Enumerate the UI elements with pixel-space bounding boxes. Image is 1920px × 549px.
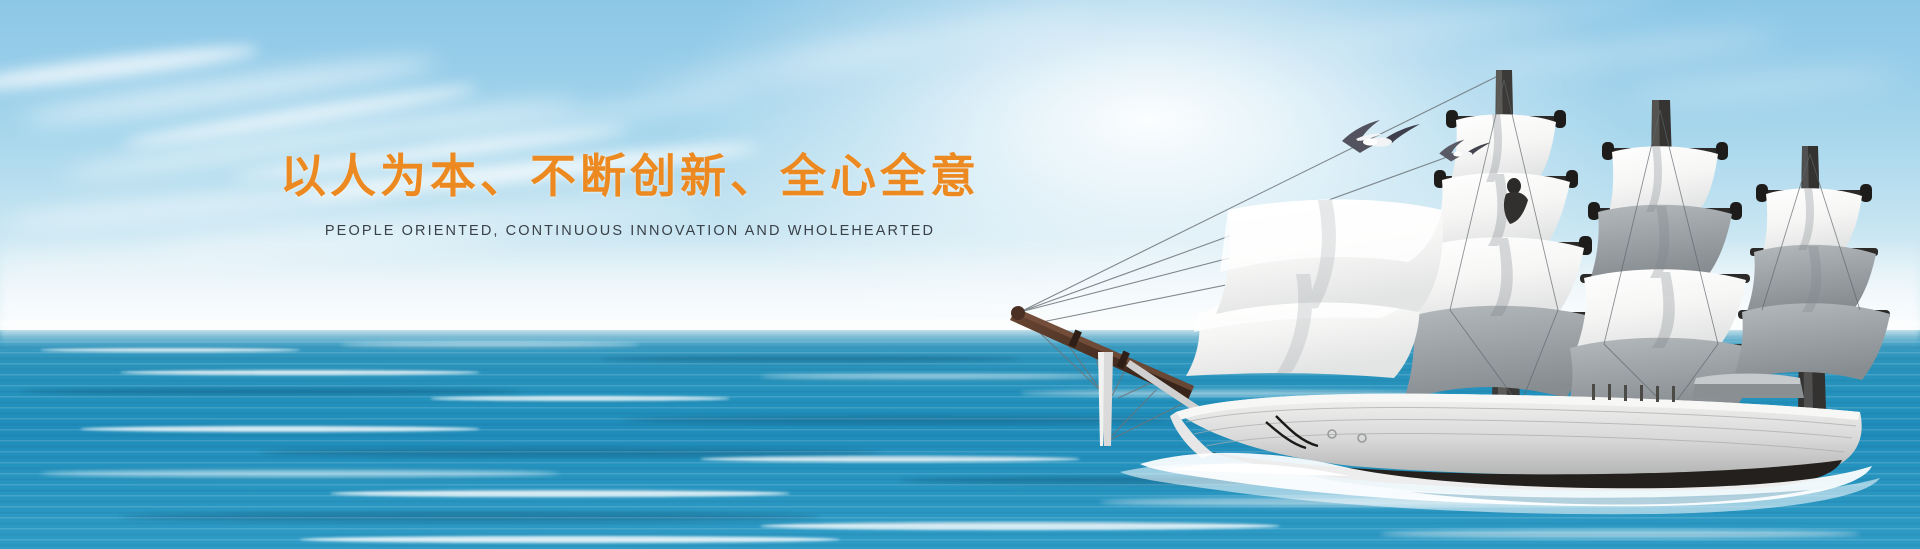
seagull-small: [1439, 140, 1490, 162]
banner-headline: 以人为本、不断创新、全心全意: [0, 150, 1260, 203]
wave-highlight: [330, 490, 790, 497]
wave-highlight: [760, 522, 1280, 530]
banner-text-block: 以人为本、不断创新、全心全意 PEOPLE ORIENTED, CONTINUO…: [0, 150, 1260, 239]
wave-shadow: [600, 356, 1020, 362]
wave-highlight: [1380, 530, 1860, 538]
hero-banner: 以人为本、不断创新、全心全意 PEOPLE ORIENTED, CONTINUO…: [0, 0, 1920, 549]
wave-highlight: [80, 426, 480, 432]
banner-subheadline: PEOPLE ORIENTED, CONTINUOUS INNOVATION A…: [0, 223, 1260, 239]
wave-highlight: [430, 396, 730, 401]
wave-shadow: [120, 512, 820, 522]
sails-mizzen: [1732, 188, 1890, 382]
seagull-large: [1342, 120, 1420, 153]
wave-highlight: [40, 348, 300, 352]
wave-shadow: [260, 448, 880, 457]
wave-highlight: [40, 470, 560, 477]
wave-highlight: [300, 536, 840, 543]
wave-highlight: [120, 370, 480, 375]
wave-shadow: [20, 388, 520, 395]
